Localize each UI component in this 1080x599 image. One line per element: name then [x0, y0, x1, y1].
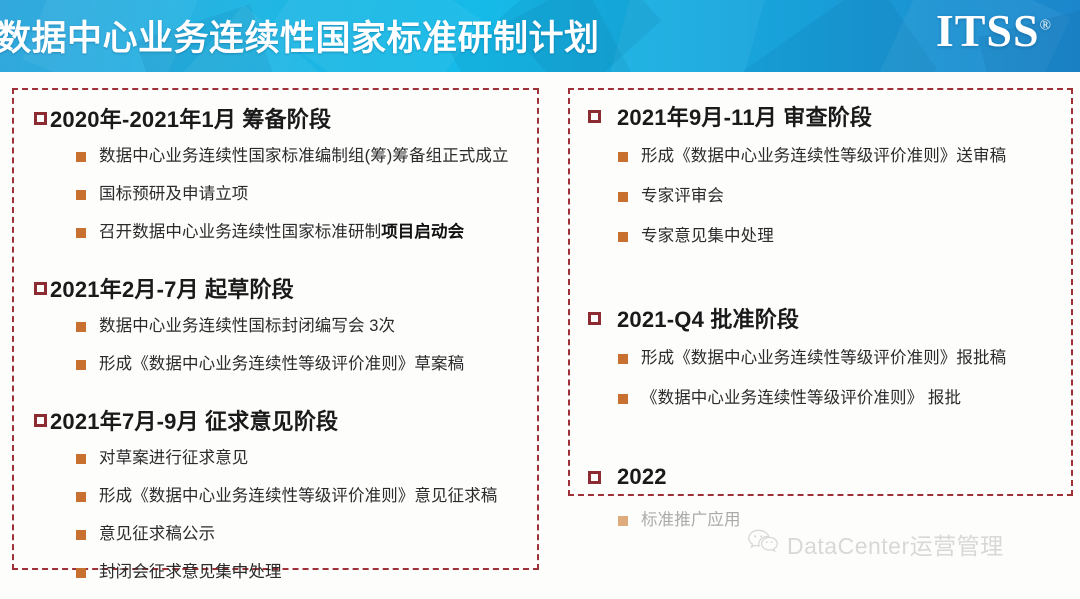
phase-item-label: 形成《数据中心业务连续性等级评价准则》草案稿: [99, 356, 464, 373]
itss-logo: ITSS®: [936, 8, 1052, 54]
phase-item-label: 国标预研及申请立项: [99, 186, 248, 203]
phase-item: 国标预研及申请立项: [14, 186, 248, 203]
wechat-icon: [748, 529, 778, 559]
bullet-marker-icon: [618, 354, 628, 364]
phase-item: 《数据中心业务连续性等级评价准则》 报批: [570, 390, 961, 407]
phase-heading-label: 2020年-2021年1月 筹备阶段: [50, 102, 331, 134]
header-banner: 数据中心业务连续性国家标准研制计划 ITSS®: [0, 0, 1080, 72]
phase-heading-label: 2021年7月-9月 征求意见阶段: [50, 404, 338, 436]
phase-item-label: 数据中心业务连续性国家标准编制组(筹)筹备组正式成立: [99, 148, 509, 165]
watermark-label: DataCenter运营管理: [787, 527, 1004, 561]
phase-heading: 2022: [570, 464, 667, 490]
phase-item: 封闭会征求意见集中处理: [14, 564, 282, 581]
phase-item: 形成《数据中心业务连续性等级评价准则》意见征求稿: [14, 488, 497, 505]
phase-item-label: 形成《数据中心业务连续性等级评价准则》意见征求稿: [99, 488, 497, 505]
slide-root: 数据中心业务连续性国家标准研制计划 ITSS® 2020年-2021年1月 筹备…: [0, 0, 1080, 599]
phase-item-label: 《数据中心业务连续性等级评价准则》 报批: [641, 390, 961, 407]
bullet-marker-icon: [618, 232, 628, 242]
phase-heading: 2020年-2021年1月 筹备阶段: [14, 102, 331, 134]
right-timeline-panel: 2021年9月-11月 审查阶段形成《数据中心业务连续性等级评价准则》送审稿专家…: [568, 88, 1073, 496]
bullet-marker-icon: [76, 228, 86, 238]
phase-marker-icon: [34, 282, 47, 295]
phase-item: 专家意见集中处理: [570, 228, 774, 245]
itss-logo-text: ITSS: [936, 5, 1040, 56]
phase-heading-label: 2021-Q4 批准阶段: [617, 302, 799, 334]
phase-marker-icon: [34, 414, 47, 427]
phase-heading: 2021年7月-9月 征求意见阶段: [14, 404, 338, 436]
phase-item: 形成《数据中心业务连续性等级评价准则》送审稿: [570, 148, 1006, 165]
bullet-marker-icon: [618, 394, 628, 404]
phase-item: 形成《数据中心业务连续性等级评价准则》报批稿: [570, 350, 1006, 367]
phase-item-label: 形成《数据中心业务连续性等级评价准则》报批稿: [641, 350, 1006, 367]
phase-item: 形成《数据中心业务连续性等级评价准则》草案稿: [14, 356, 464, 373]
phase-item-label: 数据中心业务连续性国标封闭编写会 3次: [99, 318, 395, 335]
phase-item-emphasis: 项目启动会: [381, 223, 464, 241]
phase-item: 数据中心业务连续性国家标准编制组(筹)筹备组正式成立: [14, 148, 509, 165]
phase-marker-icon: [588, 110, 601, 123]
phase-item: 标准推广应用: [570, 512, 741, 529]
left-timeline-panel: 2020年-2021年1月 筹备阶段数据中心业务连续性国家标准编制组(筹)筹备组…: [12, 88, 539, 570]
bullet-marker-icon: [76, 568, 86, 578]
phase-item: 对草案进行征求意见: [14, 450, 248, 467]
phase-heading-label: 2021年2月-7月 起草阶段: [50, 272, 294, 304]
bullet-marker-icon: [76, 530, 86, 540]
bullet-marker-icon: [618, 152, 628, 162]
phase-item-label: 形成《数据中心业务连续性等级评价准则》送审稿: [641, 148, 1006, 165]
phase-item: 专家评审会: [570, 188, 724, 205]
phase-heading-label: 2022: [617, 464, 667, 490]
phase-item: 数据中心业务连续性国标封闭编写会 3次: [14, 318, 395, 335]
phase-heading: 2021-Q4 批准阶段: [570, 302, 799, 334]
phase-marker-icon: [588, 471, 601, 484]
bullet-marker-icon: [76, 360, 86, 370]
phase-item-label: 对草案进行征求意见: [99, 450, 248, 467]
registered-mark-icon: ®: [1040, 18, 1052, 34]
phase-marker-icon: [34, 112, 47, 125]
phase-item: 召开数据中心业务连续性国家标准研制项目启动会: [14, 224, 464, 241]
bullet-marker-icon: [76, 454, 86, 464]
phase-heading: 2021年9月-11月 审查阶段: [570, 100, 872, 132]
phase-heading-label: 2021年9月-11月 审查阶段: [617, 100, 872, 132]
bullet-marker-icon: [618, 516, 628, 526]
phase-item: 意见征求稿公示: [14, 526, 215, 543]
wechat-watermark: DataCenter运营管理: [748, 527, 1004, 561]
phase-item-label: 召开数据中心业务连续性国家标准研制项目启动会: [99, 224, 464, 241]
bullet-marker-icon: [76, 322, 86, 332]
phase-item-label: 意见征求稿公示: [99, 526, 215, 543]
bullet-marker-icon: [618, 192, 628, 202]
phase-item-label: 专家意见集中处理: [641, 228, 774, 245]
phase-marker-icon: [588, 312, 601, 325]
phase-heading: 2021年2月-7月 起草阶段: [14, 272, 294, 304]
bullet-marker-icon: [76, 492, 86, 502]
phase-item-label: 标准推广应用: [641, 512, 741, 529]
page-title: 数据中心业务连续性国家标准研制计划: [0, 10, 600, 61]
bullet-marker-icon: [76, 190, 86, 200]
phase-item-label: 专家评审会: [641, 188, 724, 205]
phase-item-label: 封闭会征求意见集中处理: [99, 564, 282, 581]
bullet-marker-icon: [76, 152, 86, 162]
